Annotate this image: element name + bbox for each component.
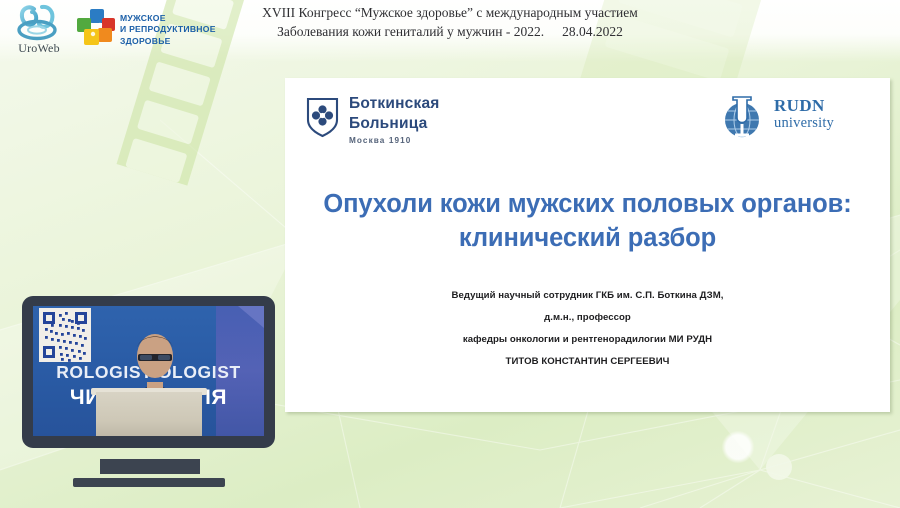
slide-title-line2: клинический разбор	[301, 222, 874, 256]
author-line2: д.м.н., профессор	[301, 307, 874, 329]
monitor-screen[interactable]: ROLOGIST OLOGIST ЧИ / 27 ПРЕЛЯ	[33, 306, 264, 436]
qr-code	[39, 308, 91, 362]
slide-title-line1: Опухоли кожи мужских половых органов:	[301, 188, 874, 222]
rudn-university-logo: RUDN university	[716, 92, 876, 146]
uroweb-logo-text: UroWeb	[8, 41, 70, 56]
podium	[96, 392, 202, 436]
author-line3: кафедры онкологии и рентгенорадилогии МИ…	[301, 329, 874, 351]
rudn-logo-line1: RUDN	[774, 96, 834, 115]
puzzle-logo-line2: И РЕПРОДУКТИВНОЕ	[120, 24, 224, 35]
botkin-logo-line1: Боткинская	[349, 94, 440, 114]
puzzle-logo-text: МУЖСКОЕ И РЕПРОДУКТИВНОЕ ЗДОРОВЬЕ	[120, 13, 224, 47]
botkin-logo-line2: Больница	[349, 114, 440, 134]
botkin-hospital-logo: Боткинская Больница Москва 1910	[305, 94, 505, 156]
male-reproductive-health-logo: МУЖСКОЕ И РЕПРОДУКТИВНОЕ ЗДОРОВЬЕ	[74, 6, 224, 52]
author-name: ТИТОВ КОНСТАНТИН СЕРГЕЕВИЧ	[301, 351, 874, 373]
rudn-logo-text: RUDN university	[774, 96, 834, 131]
speaker-video-monitor[interactable]: ROLOGIST OLOGIST ЧИ / 27 ПРЕЛЯ	[22, 296, 275, 488]
qr-code-icon	[39, 308, 91, 362]
puzzle-logo-line3: ЗДОРОВЬЕ	[120, 36, 224, 47]
monitor-stand-base	[73, 478, 225, 487]
puzzle-logo-line1: МУЖСКОЕ	[120, 13, 224, 24]
slide-title: Опухоли кожи мужских половых органов: кл…	[301, 188, 874, 256]
uroweb-swirl-icon	[8, 3, 70, 45]
stage-backdrop-triangle	[238, 306, 264, 328]
author-line1: Ведущий научный сотрудник ГКБ им. С.П. Б…	[301, 285, 874, 307]
congress-topic: Заболевания кожи гениталий у мужчин - 20…	[277, 24, 544, 39]
uroweb-logo: UroWeb	[8, 3, 70, 57]
presentation-slide[interactable]: Боткинская Больница Москва 1910 RUDN uni…	[285, 78, 890, 412]
puzzle-pieces-icon	[74, 7, 118, 51]
rudn-globe-icon	[716, 94, 768, 140]
slide-author-block: Ведущий научный сотрудник ГКБ им. С.П. Б…	[301, 285, 874, 372]
shield-cross-icon	[305, 96, 340, 138]
monitor-stand-neck	[100, 459, 200, 474]
botkin-logo-name: Боткинская Больница	[349, 94, 440, 134]
rudn-logo-line2: university	[774, 115, 834, 131]
botkin-logo-subtitle: Москва 1910	[349, 136, 411, 145]
monitor-bezel: ROLOGIST OLOGIST ЧИ / 27 ПРЕЛЯ	[22, 296, 275, 448]
congress-date: 28.04.2022	[562, 24, 623, 39]
